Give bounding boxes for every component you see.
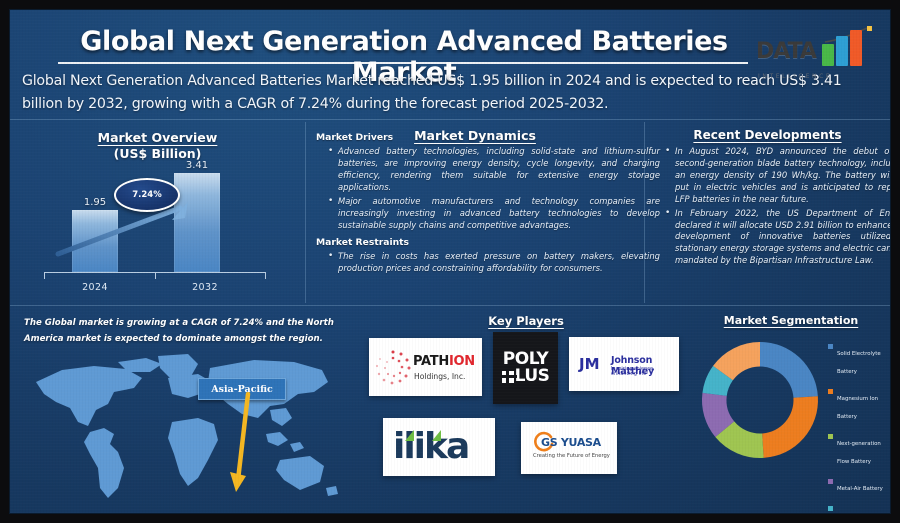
market-overview-bar-chart: 1.95 3.41 2024 2032 7.24% (32, 164, 284, 294)
segmentation-donut-chart (696, 336, 824, 464)
header-subtitle: Global Next Generation Advanced Batterie… (22, 70, 884, 116)
pathion-word-b: ION (449, 354, 475, 369)
polyplus-line2: LUS (515, 368, 550, 385)
key-players-title: Key Players (361, 314, 691, 328)
pathion-word-a: PATH (413, 354, 449, 369)
bar-value-2032: 3.41 (167, 160, 227, 171)
jm-tagline: Inspiring science, enhancing life (611, 367, 679, 377)
pathion-spiral-icon (374, 348, 412, 386)
donut-slice-solid-electrolyte (760, 342, 818, 398)
player-logo-pathion: PATHION Holdings, Inc. (369, 338, 482, 396)
market-drivers-heading: Market Drivers (316, 132, 393, 143)
infographic-poster: Global Next Generation Advanced Batterie… (10, 10, 890, 513)
legend-label: Magnesium Ion Battery (837, 396, 878, 420)
pathion-wordmark: PATHION (413, 354, 475, 369)
legend-item: Solid Electrolyte Battery (828, 342, 890, 378)
pathion-subtext: Holdings, Inc. (414, 372, 465, 381)
cagr-value: 7.24% (132, 190, 162, 200)
market-segmentation-title: Market Segmentation (692, 314, 890, 327)
list-item: The rise in costs has exerted pressure o… (338, 251, 660, 275)
market-restraints-heading: Market Restraints (316, 237, 409, 248)
plus-icon (502, 371, 514, 383)
legend-label: Metal-Air Battery (837, 486, 883, 492)
recent-developments-list: In August 2024, BYD announced the debut … (649, 146, 890, 269)
title-underline (58, 62, 748, 64)
list-item: Advanced battery technologies, including… (338, 146, 660, 194)
list-item: In February 2022, the US Department of E… (675, 208, 890, 268)
legend-swatch (828, 344, 833, 349)
recent-developments-title: Recent Developments (645, 128, 890, 142)
logo-wordmark: DATA (756, 39, 816, 64)
gsyuasa-wordmark: GS YUASA (541, 436, 601, 449)
panel-market-segmentation: Market Segmentation (692, 306, 890, 513)
panel-key-players: Key Players (361, 306, 691, 513)
logo-bars-icon (822, 30, 870, 66)
panel-regional-map: The Global market is growing at a CAGR o… (10, 306, 360, 513)
legend-swatch (828, 434, 833, 439)
row-lower: The Global market is growing at a CAGR o… (10, 306, 890, 513)
list-item: In August 2024, BYD announced the debut … (675, 146, 890, 206)
header: Global Next Generation Advanced Batterie… (10, 10, 890, 120)
jm-monogram: JM (579, 355, 600, 373)
legend-swatch (828, 389, 833, 394)
market-restraints-list: The rise in costs has exerted pressure o… (312, 251, 666, 277)
world-map (22, 348, 352, 508)
market-overview-title: Market Overview (10, 130, 305, 145)
list-item: Major automotive manufacturers and techn… (338, 196, 660, 232)
legend-item: Next-generation Flow Battery (828, 432, 890, 468)
legend-swatch (828, 506, 833, 511)
legend-item: Metal-Air Battery (828, 477, 890, 495)
x-label-2024: 2024 (60, 282, 130, 293)
player-logo-gs-yuasa: GS YUASA Creating the Future of Energy (521, 422, 617, 474)
logo-subtext: INTELLIGENCE (758, 73, 832, 80)
panel-market-dynamics: Market Dynamics Market Drivers Advanced … (306, 120, 644, 305)
ilika-accent-icon (405, 430, 414, 441)
map-pointer-arrow-icon (222, 392, 268, 504)
market-overview-units: (US$ Billion) (10, 146, 305, 161)
market-drivers-list: Advanced battery technologies, including… (312, 146, 666, 233)
gsyuasa-tagline: Creating the Future of Energy (533, 453, 610, 459)
legend-label: Solid Electrolyte Battery (837, 351, 881, 375)
panel-market-overview: Market Overview (US$ Billion) 1.95 3.41 (10, 120, 305, 305)
legend-label: Next-generation Flow Battery (837, 441, 881, 465)
legend-swatch (828, 479, 833, 484)
segmentation-legend: Solid Electrolyte Battery Magnesium Ion … (828, 342, 890, 513)
row-upper: Market Overview (US$ Billion) 1.95 3.41 (10, 120, 890, 305)
world-map-icon (22, 348, 352, 508)
logo-spark-icon (867, 26, 872, 31)
x-label-2032: 2032 (170, 282, 240, 293)
legend-item: Lithium-Sulfur Battery (828, 504, 890, 513)
player-logo-polyplus: POLY LUS (493, 332, 558, 404)
legend-item: Magnesium Ion Battery (828, 387, 890, 423)
map-note: The Global market is growing at a CAGR o… (24, 316, 352, 348)
donut-slice-magnesium-ion (762, 396, 818, 458)
ilika-accent-icon-2 (432, 430, 441, 441)
panel-recent-developments: Recent Developments In August 2024, BYD … (645, 120, 890, 305)
player-logo-johnson-matthey: JM Johnson Matthey Inspiring science, en… (569, 337, 679, 391)
player-logo-ilika: ilika (383, 418, 495, 476)
brand-logo: DATA INTELLIGENCE (756, 26, 872, 78)
cagr-badge: 7.24% (114, 178, 180, 212)
